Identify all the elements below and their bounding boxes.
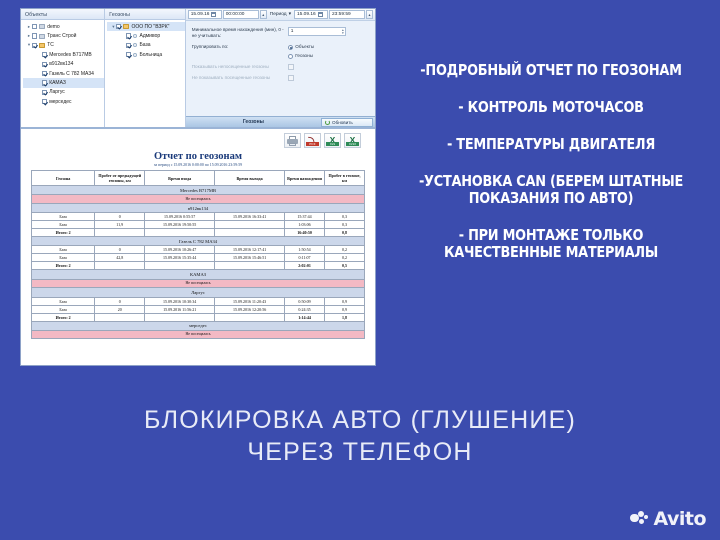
cell-total-duration: 16:40:50 [285, 229, 325, 237]
column-header-exit: Время выхода [215, 171, 285, 186]
min-time-option: Минимальное время нахождения (мин), 0 - … [192, 27, 369, 39]
stepper-arrows-icon[interactable]: ▴▾ [342, 29, 344, 35]
date-to-value: 15.09.16 [297, 12, 316, 17]
geozone-icon [133, 43, 137, 47]
group-header-row: Ларгус [32, 288, 365, 297]
avito-logo-icon [630, 511, 649, 528]
object-tree-item[interactable]: ▾ТС [23, 41, 104, 50]
cell-exit-time: 15.09.2016 11:20:43 [215, 297, 285, 305]
object-tree-item[interactable]: ▸demo [23, 22, 104, 31]
geozone-tree-label: Больница [139, 52, 162, 58]
cell-total-km: 0,8 [325, 229, 365, 237]
group-name-cell: мерседес [32, 321, 365, 330]
cell-prev-km: 11,9 [95, 221, 145, 229]
folder-icon [39, 43, 45, 48]
geozone-report-table: Геозона Пробег от предыдущей геозоны, км… [31, 170, 365, 339]
cell-geozone: База [32, 297, 95, 305]
xls-label: XLS [326, 142, 339, 147]
cell-total-duration: 1:14:44 [285, 313, 325, 321]
objects-pane-header: Объекты [21, 9, 104, 20]
cell-entry-time: 15.09.2016 0:55:57 [145, 213, 215, 221]
time-from-value: 00:00:00 [226, 12, 245, 17]
cell-duration: 0:11:07 [285, 254, 325, 262]
objects-tree-body[interactable]: ▸demo▸Транс Строй▾ТСMercedes B717MBв912в… [21, 20, 104, 107]
show-unvisited-option: Показывать непосещенные геозоны [192, 64, 369, 70]
tree-checkbox[interactable] [42, 52, 47, 57]
column-header-entry: Время входа [145, 171, 215, 186]
time-to-value: 23:59:59 [332, 12, 351, 17]
object-tree-item[interactable]: Mercedes B717MB [23, 50, 104, 59]
tree-checkbox[interactable] [42, 80, 47, 85]
cell-geo-km: 0,9 [325, 305, 365, 313]
cell-geo-km: 0,3 [325, 213, 365, 221]
group-by-radio-group[interactable]: ОбъектыГеозоны [288, 44, 314, 59]
object-tree-item[interactable]: ▸Транс Строй [23, 31, 104, 40]
printer-output-shape [289, 143, 296, 146]
folder-icon [39, 34, 45, 39]
total-row: Итого: 216:40:500,8 [32, 229, 365, 237]
cell-total-km: 0,5 [325, 262, 365, 270]
geozones-tree-body[interactable]: ▾ООО ПО "ВЗРК"АдмиворБазаБольница [105, 20, 184, 60]
radio-indicator [288, 45, 293, 50]
cell-entry-time: 15.09.2016 10:26:47 [145, 246, 215, 254]
promo-bullet: - КОНТРОЛЬ МОТОЧАСОВ [409, 99, 693, 116]
object-tree-label: demo [47, 24, 60, 30]
total-row: Итого: 21:14:441,8 [32, 313, 365, 321]
not-visited-row: Не посещалась [32, 195, 365, 204]
calendar-icon[interactable] [318, 12, 323, 17]
cell-geo-km: 0,3 [325, 221, 365, 229]
group-name-cell: Mercedes B717MB [32, 186, 365, 195]
period-selector[interactable]: Период ▾ [268, 12, 293, 17]
settings-tab-bar[interactable]: Геозоны Обновить [186, 116, 375, 127]
table-header-row: Геозона Пробег от предыдущей геозоны, км… [32, 171, 365, 186]
geozone-tree-item[interactable]: Больница [107, 50, 184, 59]
cell-empty [95, 229, 145, 237]
report-subtitle: за период с 15.09.2016 0:00:00 по 15.09.… [31, 163, 365, 167]
avito-wordmark: Avito [653, 508, 706, 530]
headline-line-1: БЛОКИРОВКА АВТО (ГЛУШЕНИЕ) [144, 406, 576, 434]
hide-visited-label: Не показывать посещенные геозоны [192, 75, 288, 81]
promo-headline: БЛОКИРОВКА АВТО (ГЛУШЕНИЕ) ЧЕРЕЗ ТЕЛЕФОН [0, 404, 720, 468]
group-name-cell: Ларгус [32, 288, 365, 297]
geozone-tree-item[interactable]: База [107, 41, 184, 50]
object-tree-label: мерседес [49, 99, 71, 105]
cell-total-label: Итого: 2 [32, 262, 95, 270]
export-xlsx-icon[interactable]: X XLSX [344, 133, 361, 148]
cell-total-km: 1,8 [325, 313, 365, 321]
table-row: База015.09.2016 10:30:3415.09.2016 11:20… [32, 297, 365, 305]
time-to-stepper[interactable]: ▴ [366, 10, 373, 20]
cell-prev-km: 0 [95, 213, 145, 221]
cell-duration: 1:50:54 [285, 246, 325, 254]
geozone-tree-item[interactable]: Адмивор [107, 31, 184, 40]
time-from-field[interactable]: 00:00:00 [223, 10, 259, 20]
cell-empty [145, 229, 215, 237]
date-range-toolbar[interactable]: 15.09.16 00:00:00 ▴ Период ▾ 15.09.16 23… [186, 9, 375, 21]
cell-geo-km: 0,2 [325, 254, 365, 262]
cell-prev-km: 20 [95, 305, 145, 313]
export-toolbar[interactable]: ⤵ PDF X XLS X XLSX [31, 133, 365, 150]
cell-geo-km: 0,2 [325, 246, 365, 254]
object-tree-label: Газель С 782 МА34 [49, 71, 94, 77]
cell-empty [215, 313, 285, 321]
export-xls-icon[interactable]: X XLS [324, 133, 341, 148]
time-to-field[interactable]: 23:59:59 [329, 10, 365, 20]
group-name-cell: КАМАЗ [32, 270, 365, 279]
group-by-radio-label: Объекты [295, 44, 314, 50]
tree-checkbox[interactable] [42, 90, 47, 95]
calendar-icon[interactable] [211, 12, 216, 17]
group-by-radio-label: Геозоны [295, 53, 313, 59]
table-row: База015.09.2016 10:26:4715.09.2016 12:17… [32, 246, 365, 254]
group-by-radio[interactable]: Объекты [288, 44, 314, 50]
objects-tree-pane[interactable]: Объекты ▸demo▸Транс Строй▾ТСMercedes B71… [21, 9, 105, 127]
geozone-tree-label: ООО ПО "ВЗРК" [131, 24, 169, 30]
geozones-pane-header: Геозоны [105, 9, 184, 20]
radio-indicator [288, 54, 293, 59]
cell-entry-time: 15.09.2016 15:35:44 [145, 254, 215, 262]
cell-empty [215, 262, 285, 270]
export-pdf-icon[interactable]: ⤵ PDF [304, 133, 321, 148]
cell-total-label: Итого: 2 [32, 313, 95, 321]
promo-bullet-list: -ПОДРОБНЫЙ ОТЧЕТ ПО ГЕОЗОНАМ - КОНТРОЛЬ … [386, 62, 716, 281]
tree-checkbox[interactable] [42, 71, 47, 76]
cell-geozone: База [32, 221, 95, 229]
group-header-row: мерседес [32, 321, 365, 330]
geozone-tree-label: Адмивор [139, 33, 160, 39]
cell-entry-time: 15.09.2016 11:56:21 [145, 305, 215, 313]
promo-bullet: - ПРИ МОНТАЖЕ ТОЛЬКО КАЧЕСТВЕННЫЕ МАТЕРИ… [409, 227, 693, 261]
cell-exit-time [215, 221, 285, 229]
table-row: База42,815.09.2016 15:35:4415.09.2016 15… [32, 254, 365, 262]
period-label: Период [270, 12, 287, 17]
geozone-tree-label: База [139, 42, 150, 48]
tree-checkbox[interactable] [32, 24, 37, 29]
xlsx-label: XLSX [346, 142, 359, 147]
tree-checkbox[interactable] [126, 33, 131, 38]
object-tree-label: в912вк134 [49, 61, 73, 67]
report-area: ⤵ PDF X XLS X XLSX Отчет по геозонам за … [21, 127, 375, 365]
cell-exit-time: 15.09.2016 12:20:56 [215, 305, 285, 313]
time-from-stepper[interactable]: ▴ [260, 10, 267, 20]
settings-options: Минимальное время нахождения (мин), 0 - … [186, 21, 375, 81]
headline-line-2: ЧЕРЕЗ ТЕЛЕФОН [0, 436, 720, 468]
group-header-row: в912вк134 [32, 203, 365, 212]
table-row: База015.09.2016 0:55:5715.09.2016 16:33:… [32, 213, 365, 221]
not-visited-row: Не посещалась [32, 330, 365, 339]
cell-duration: 0:24:35 [285, 305, 325, 313]
tab-geozones[interactable]: Геозоны [186, 119, 321, 125]
cell-empty [215, 229, 285, 237]
cell-entry-time: 15.09.2016 19:50:55 [145, 221, 215, 229]
promo-bullet: -ПОДРОБНЫЙ ОТЧЕТ ПО ГЕОЗОНАМ [409, 62, 693, 79]
cell-duration: 1:03:06 [285, 221, 325, 229]
table-row: База2015.09.2016 11:56:2115.09.2016 12:2… [32, 305, 365, 313]
cell-prev-km: 42,8 [95, 254, 145, 262]
not-visited-label: Не посещалась [32, 330, 365, 339]
cell-exit-time: 15.09.2016 15:46:51 [215, 254, 285, 262]
cell-duration: 0:50:09 [285, 297, 325, 305]
tree-checkbox[interactable] [42, 62, 47, 67]
cell-empty [145, 262, 215, 270]
object-tree-label: Ларгус [49, 89, 65, 95]
min-time-value: 1 [291, 29, 294, 35]
group-header-row: Mercedes B717MB [32, 186, 365, 195]
object-tree-label: КАМАЗ [49, 80, 66, 86]
group-by-label: Группировать по: [192, 44, 288, 59]
total-row: Итого: 22:02:010,5 [32, 262, 365, 270]
tree-checkbox[interactable] [126, 52, 131, 57]
cell-empty [95, 262, 145, 270]
date-to-field[interactable]: 15.09.16 [294, 10, 328, 20]
cell-prev-km: 0 [95, 246, 145, 254]
tree-checkbox[interactable] [116, 24, 121, 29]
object-tree-item[interactable]: Газель С 782 МА34 [23, 69, 104, 78]
column-header-duration: Время нахождения [285, 171, 325, 186]
not-visited-row: Не посещалась [32, 279, 365, 288]
not-visited-label: Не посещалась [32, 279, 365, 288]
chevron-down-icon[interactable]: ▾ [289, 12, 291, 17]
refresh-button[interactable]: Обновить [321, 118, 373, 127]
date-from-field[interactable]: 15.09.16 [188, 10, 222, 20]
cell-empty [145, 313, 215, 321]
cell-empty [95, 313, 145, 321]
cell-entry-time: 15.09.2016 10:30:34 [145, 297, 215, 305]
object-tree-item[interactable]: КАМАЗ [23, 78, 104, 87]
object-tree-item[interactable]: в912вк134 [23, 60, 104, 69]
geozone-icon [133, 34, 137, 38]
report-title: Отчет по геозонам [31, 151, 365, 162]
cell-geozone: База [32, 246, 95, 254]
geozone-tree-item[interactable]: ▾ООО ПО "ВЗРК" [107, 22, 184, 31]
pdf-label: PDF [306, 142, 319, 147]
top-section: Объекты ▸demo▸Транс Строй▾ТСMercedes B71… [21, 9, 375, 127]
cell-exit-time: 15.09.2016 12:17:41 [215, 246, 285, 254]
hide-visited-checkbox[interactable] [288, 75, 294, 81]
column-header-geozone: Геозона [32, 171, 95, 186]
group-header-row: Газель С 782 МА34 [32, 237, 365, 246]
table-row: База11,915.09.2016 19:50:551:03:060,3 [32, 221, 365, 229]
cell-total-duration: 2:02:01 [285, 262, 325, 270]
min-time-input[interactable]: 1 ▴▾ [288, 27, 346, 36]
group-header-row: КАМАЗ [32, 270, 365, 279]
cell-duration: 15:37:44 [285, 213, 325, 221]
refresh-label: Обновить [332, 120, 353, 125]
hide-visited-option: Не показывать посещенные геозоны [192, 75, 369, 81]
cell-prev-km: 0 [95, 297, 145, 305]
folder-icon [123, 24, 129, 29]
object-tree-item[interactable]: мерседес [23, 97, 104, 106]
folder-icon [39, 24, 45, 29]
object-tree-label: ТС [47, 42, 54, 48]
show-unvisited-label: Показывать непосещенные геозоны [192, 64, 288, 70]
promo-bullet: - ТЕМПЕРАТУРЫ ДВИГАТЕЛЯ [409, 136, 693, 153]
table-body: Mercedes B717MBНе посещаласьв912вк134Баз… [32, 186, 365, 339]
column-header-prev-km: Пробег от предыдущей геозоны, км [95, 171, 145, 186]
min-time-label: Минимальное время нахождения (мин), 0 - … [192, 27, 288, 39]
object-tree-item[interactable]: Ларгус [23, 88, 104, 97]
print-icon[interactable] [284, 133, 301, 148]
refresh-icon [325, 120, 330, 125]
application-screenshot: Объекты ▸demo▸Транс Строй▾ТСMercedes B71… [20, 8, 376, 366]
tree-checkbox[interactable] [126, 43, 131, 48]
column-header-geo-km: Пробег в геозоне, км [325, 171, 365, 186]
date-from-value: 15.09.16 [191, 12, 210, 17]
group-by-option: Группировать по: ОбъектыГеозоны [192, 44, 369, 59]
cell-total-label: Итого: 2 [32, 229, 95, 237]
promo-bullet: -УСТАНОВКА CAN (БЕРЕМ ШТАТНЫЕ ПОКАЗАНИЯ … [409, 173, 693, 207]
report-settings-panel[interactable]: 15.09.16 00:00:00 ▴ Период ▾ 15.09.16 23… [186, 9, 375, 127]
group-by-radio[interactable]: Геозоны [288, 53, 314, 59]
avito-watermark: Avito [630, 508, 706, 530]
cell-exit-time: 15.09.2016 16:33:41 [215, 213, 285, 221]
tree-checkbox[interactable] [32, 43, 37, 48]
tree-checkbox[interactable] [32, 33, 37, 38]
cell-geozone: База [32, 213, 95, 221]
geozone-icon [133, 53, 137, 57]
show-unvisited-checkbox[interactable] [288, 64, 294, 70]
object-tree-label: Mercedes B717MB [49, 52, 92, 58]
not-visited-label: Не посещалась [32, 195, 365, 204]
geozones-tree-pane[interactable]: Геозоны ▾ООО ПО "ВЗРК"АдмиворБазаБольниц… [105, 9, 185, 127]
cell-geo-km: 0,9 [325, 297, 365, 305]
tree-checkbox[interactable] [42, 99, 47, 104]
group-name-cell: в912вк134 [32, 203, 365, 212]
cell-geozone: База [32, 254, 95, 262]
group-name-cell: Газель С 782 МА34 [32, 237, 365, 246]
cell-geozone: База [32, 305, 95, 313]
object-tree-label: Транс Строй [47, 33, 76, 39]
